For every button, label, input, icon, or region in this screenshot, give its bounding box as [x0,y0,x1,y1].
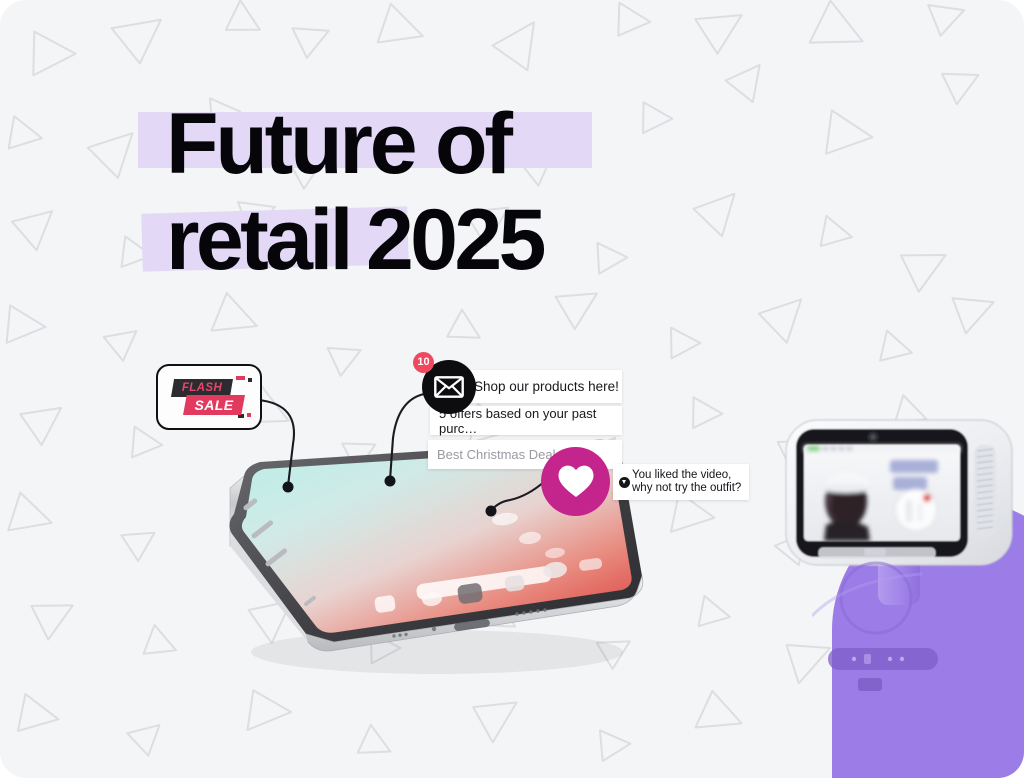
page-title: Future of retail2025 [166,96,726,288]
notification-video-line1: You liked the video, [632,469,731,481]
flash-sale-tick-4 [247,413,251,417]
tiktok-icon [619,477,630,488]
mail-unread-badge: 10 [413,352,434,373]
headline-text-retail: retail [166,192,350,288]
headline-text-future-of: Future of [166,96,510,192]
notification-text-3: Best Christmas Deals [437,447,562,462]
notification-video-line2: why not try the outfit? [632,482,741,494]
headline-text-year: 2025 [366,192,543,288]
mail-notification-bubble[interactable]: 10 [422,360,476,414]
flash-sale-bottom-label: SALE [183,395,245,415]
flash-sale-top-label: FLASH [171,379,233,397]
heart-icon [557,464,595,499]
notification-text-1: Shop our products here! [474,379,619,394]
notification-video-text: You liked the video,why not try the outf… [632,469,741,496]
flash-sale-badge[interactable]: FLASH SALE [156,364,262,430]
flash-sale-tick-1 [236,376,245,380]
notification-card-video[interactable]: You liked the video,why not try the outf… [613,464,749,500]
like-bubble[interactable] [541,447,610,516]
retail-service-robot [778,415,1024,778]
envelope-icon [434,376,464,398]
headline-line-2: retail2025 [166,192,726,288]
hero-banner: Future of retail2025 [0,0,1024,778]
headline-line-1: Future of [166,96,726,192]
flash-sale-tick-2 [248,378,252,382]
notification-text-2: 5 offers based on your past purc… [439,406,622,436]
